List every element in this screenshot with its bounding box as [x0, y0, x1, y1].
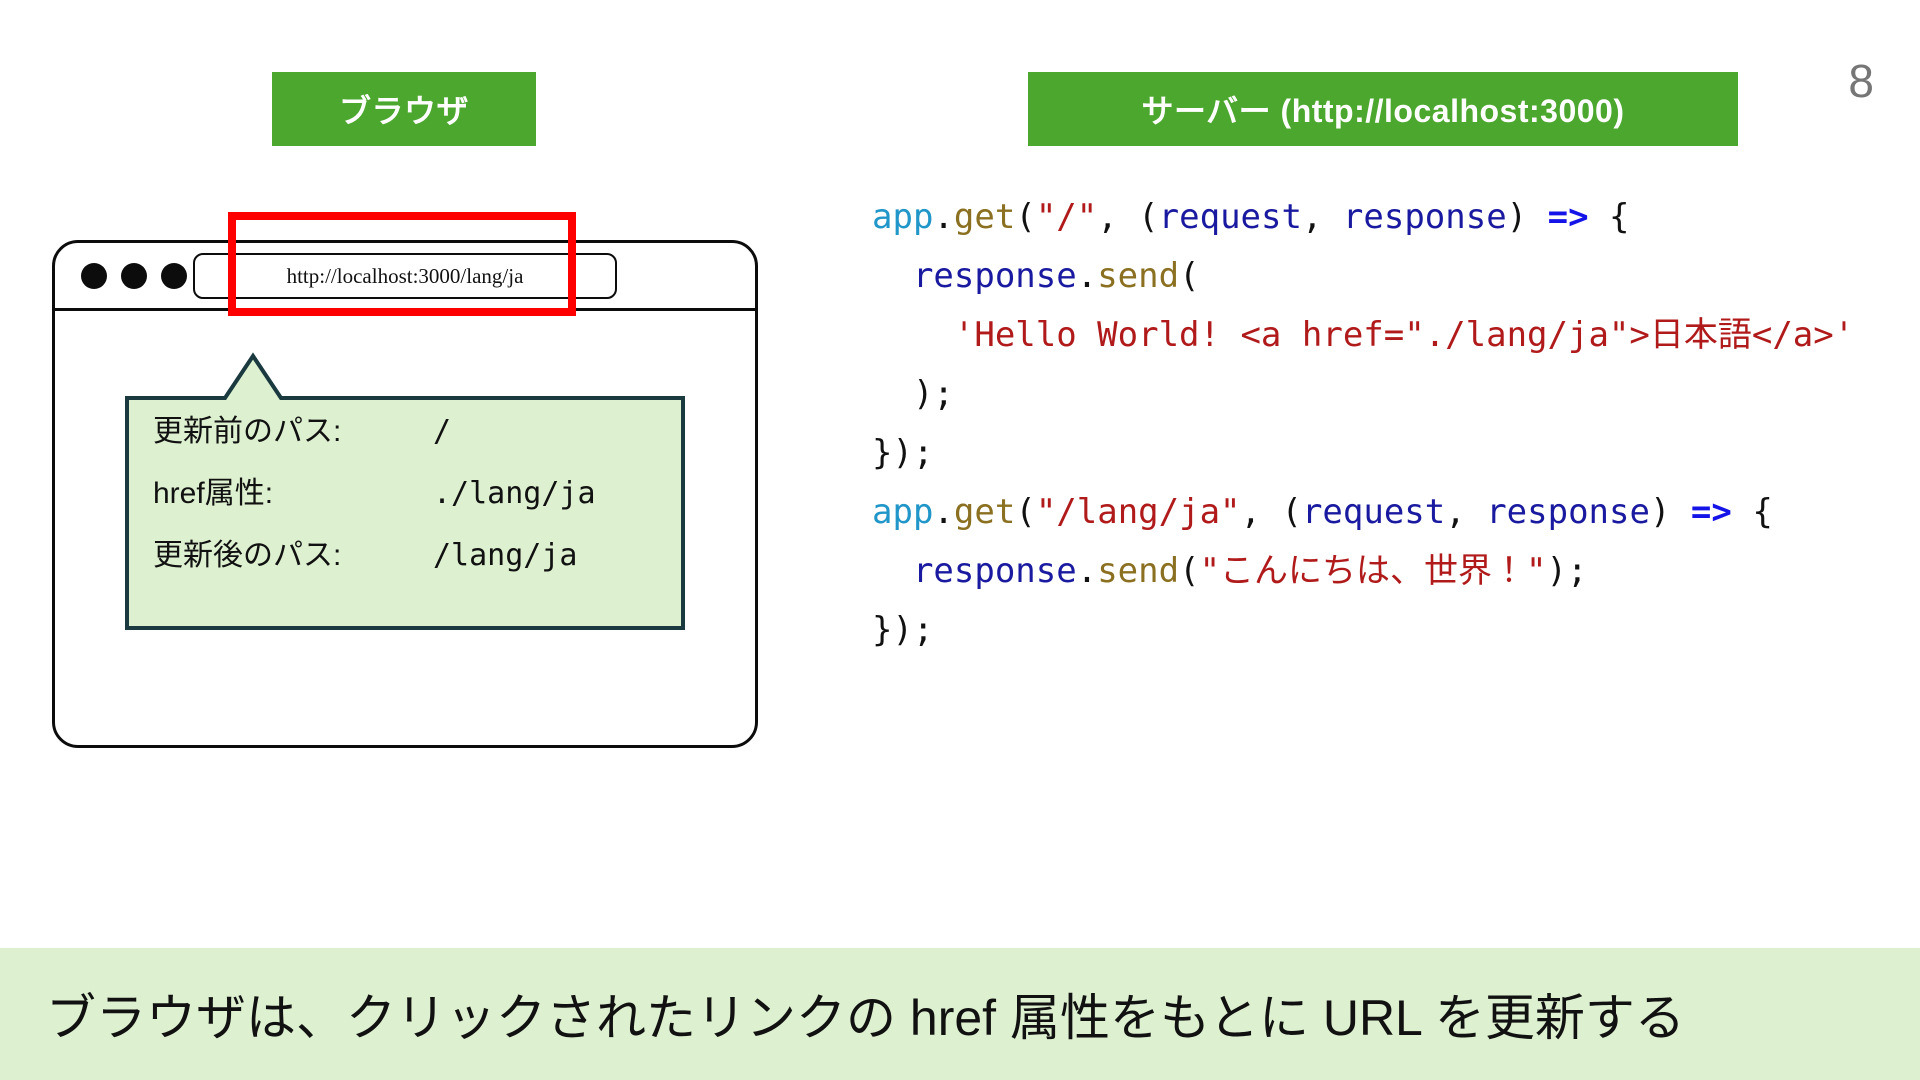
code-token-param: response [913, 551, 1077, 591]
code-token-obj: app [872, 492, 933, 532]
code-token-punc: ( [1015, 492, 1035, 532]
code-token-param: response [1486, 492, 1650, 532]
code-token-str: "/" [1036, 197, 1097, 237]
server-code-block: app.get("/", (request, response) => { re… [872, 188, 1882, 660]
callout-row: 更新前のパス: / [153, 406, 653, 468]
callout-row: 更新後のパス: /lang/ja [153, 530, 653, 592]
code-token-punc: , ( [1241, 492, 1302, 532]
browser-header-chip: ブラウザ [272, 72, 536, 146]
code-token-punc: ); [872, 374, 954, 414]
code-line: response.send( [872, 247, 1882, 306]
browser-header-label: ブラウザ [339, 86, 469, 132]
code-token-punc [872, 256, 913, 296]
code-token-arrow: => [1691, 492, 1732, 532]
window-control-dots [81, 263, 187, 289]
code-token-punc: { [1589, 197, 1630, 237]
callout-row-value: /lang/ja [433, 538, 578, 573]
path-callout: 更新前のパス: / href属性: ./lang/ja 更新後のパス: /lan… [125, 350, 685, 630]
code-line: app.get("/lang/ja", (request, response) … [872, 483, 1882, 542]
code-token-punc: ( [1015, 197, 1035, 237]
server-header-label: サーバー (http://localhost:3000) [1141, 86, 1624, 132]
callout-row: href属性: ./lang/ja [153, 468, 653, 530]
window-dot-icon[interactable] [81, 263, 107, 289]
code-token-param: request [1302, 492, 1445, 532]
callout-row-value: / [433, 414, 451, 449]
url-address-bar[interactable]: http://localhost:3000/lang/ja [193, 253, 617, 299]
callout-row-value: ./lang/ja [433, 476, 596, 511]
slide-root: 8 ブラウザ サーバー (http://localhost:3000) http… [0, 0, 1920, 1080]
callout-row-label: 更新後のパス: [153, 530, 433, 574]
code-token-punc: ) [1650, 492, 1691, 532]
code-token-fn: send [1097, 256, 1179, 296]
code-token-str: 'Hello World! <a href="./lang/ja">日本語</a… [954, 315, 1854, 355]
url-text: http://localhost:3000/lang/ja [287, 264, 524, 289]
code-line: response.send("こんにちは、世界！"); [872, 542, 1882, 601]
server-header-chip: サーバー (http://localhost:3000) [1028, 72, 1738, 146]
callout-row-label: 更新前のパス: [153, 406, 433, 450]
code-line: ); [872, 365, 1882, 424]
code-token-param: request [1159, 197, 1302, 237]
code-token-fn: get [954, 197, 1015, 237]
code-token-arrow: => [1548, 197, 1589, 237]
code-token-punc: }); [872, 610, 933, 650]
code-token-str: "こんにちは、世界！" [1200, 551, 1547, 591]
code-token-punc: ( [1179, 256, 1199, 296]
window-dot-icon[interactable] [121, 263, 147, 289]
code-line: 'Hello World! <a href="./lang/ja">日本語</a… [872, 306, 1882, 365]
code-token-param: response [913, 256, 1077, 296]
callout-row-label: href属性: [153, 468, 433, 512]
code-token-punc: ( [1179, 551, 1199, 591]
window-dot-icon[interactable] [161, 263, 187, 289]
code-token-punc [872, 551, 913, 591]
code-token-fn: send [1097, 551, 1179, 591]
caption-bar: ブラウザは、クリックされたリンクの href 属性をもとに URL を更新する [0, 948, 1920, 1080]
code-token-punc [872, 315, 954, 355]
code-token-punc: , ( [1097, 197, 1158, 237]
page-number: 8 [1848, 58, 1874, 104]
callout-rows: 更新前のパス: / href属性: ./lang/ja 更新後のパス: /lan… [153, 406, 653, 592]
code-token-punc: { [1732, 492, 1773, 532]
code-line: }); [872, 424, 1882, 483]
code-token-obj: app [872, 197, 933, 237]
browser-titlebar: http://localhost:3000/lang/ja [55, 243, 755, 311]
code-token-punc: . [1077, 551, 1097, 591]
code-line: }); [872, 601, 1882, 660]
code-token-punc: . [933, 197, 953, 237]
code-token-punc: ) [1507, 197, 1548, 237]
code-token-punc: , [1302, 197, 1343, 237]
caption-text: ブラウザは、クリックされたリンクの href 属性をもとに URL を更新する [46, 978, 1685, 1050]
code-token-fn: get [954, 492, 1015, 532]
code-token-punc: . [933, 492, 953, 532]
code-line: app.get("/", (request, response) => { [872, 188, 1882, 247]
code-token-punc: ); [1547, 551, 1588, 591]
code-token-punc: }); [872, 433, 933, 473]
code-token-punc: , [1445, 492, 1486, 532]
code-token-punc: . [1077, 256, 1097, 296]
code-token-param: response [1343, 197, 1507, 237]
code-token-str: "/lang/ja" [1036, 492, 1241, 532]
